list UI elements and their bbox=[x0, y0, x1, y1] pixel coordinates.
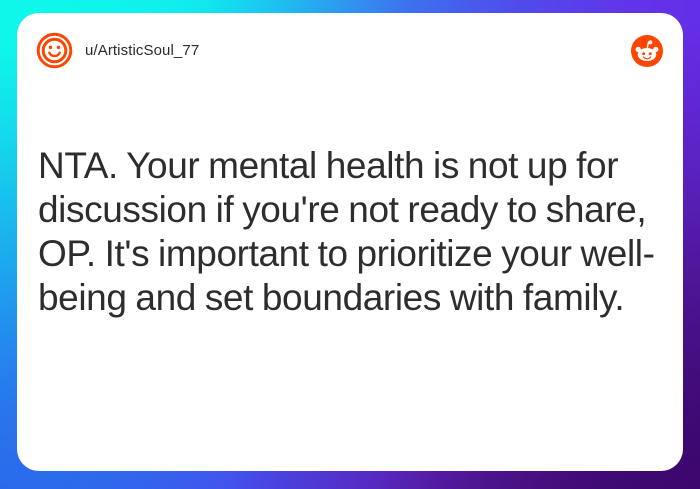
screenshot-canvas: u/ArtisticSoul_77 bbox=[0, 0, 700, 489]
username-label[interactable]: u/ArtisticSoul_77 bbox=[85, 41, 199, 61]
smiley-face-avatar-icon[interactable] bbox=[36, 32, 73, 69]
reddit-snoo-icon[interactable] bbox=[631, 35, 663, 67]
comment-body-text: NTA. Your mental health is not up for di… bbox=[38, 144, 666, 320]
reddit-comment-card: u/ArtisticSoul_77 bbox=[17, 13, 683, 471]
card-header: u/ArtisticSoul_77 bbox=[17, 13, 683, 99]
